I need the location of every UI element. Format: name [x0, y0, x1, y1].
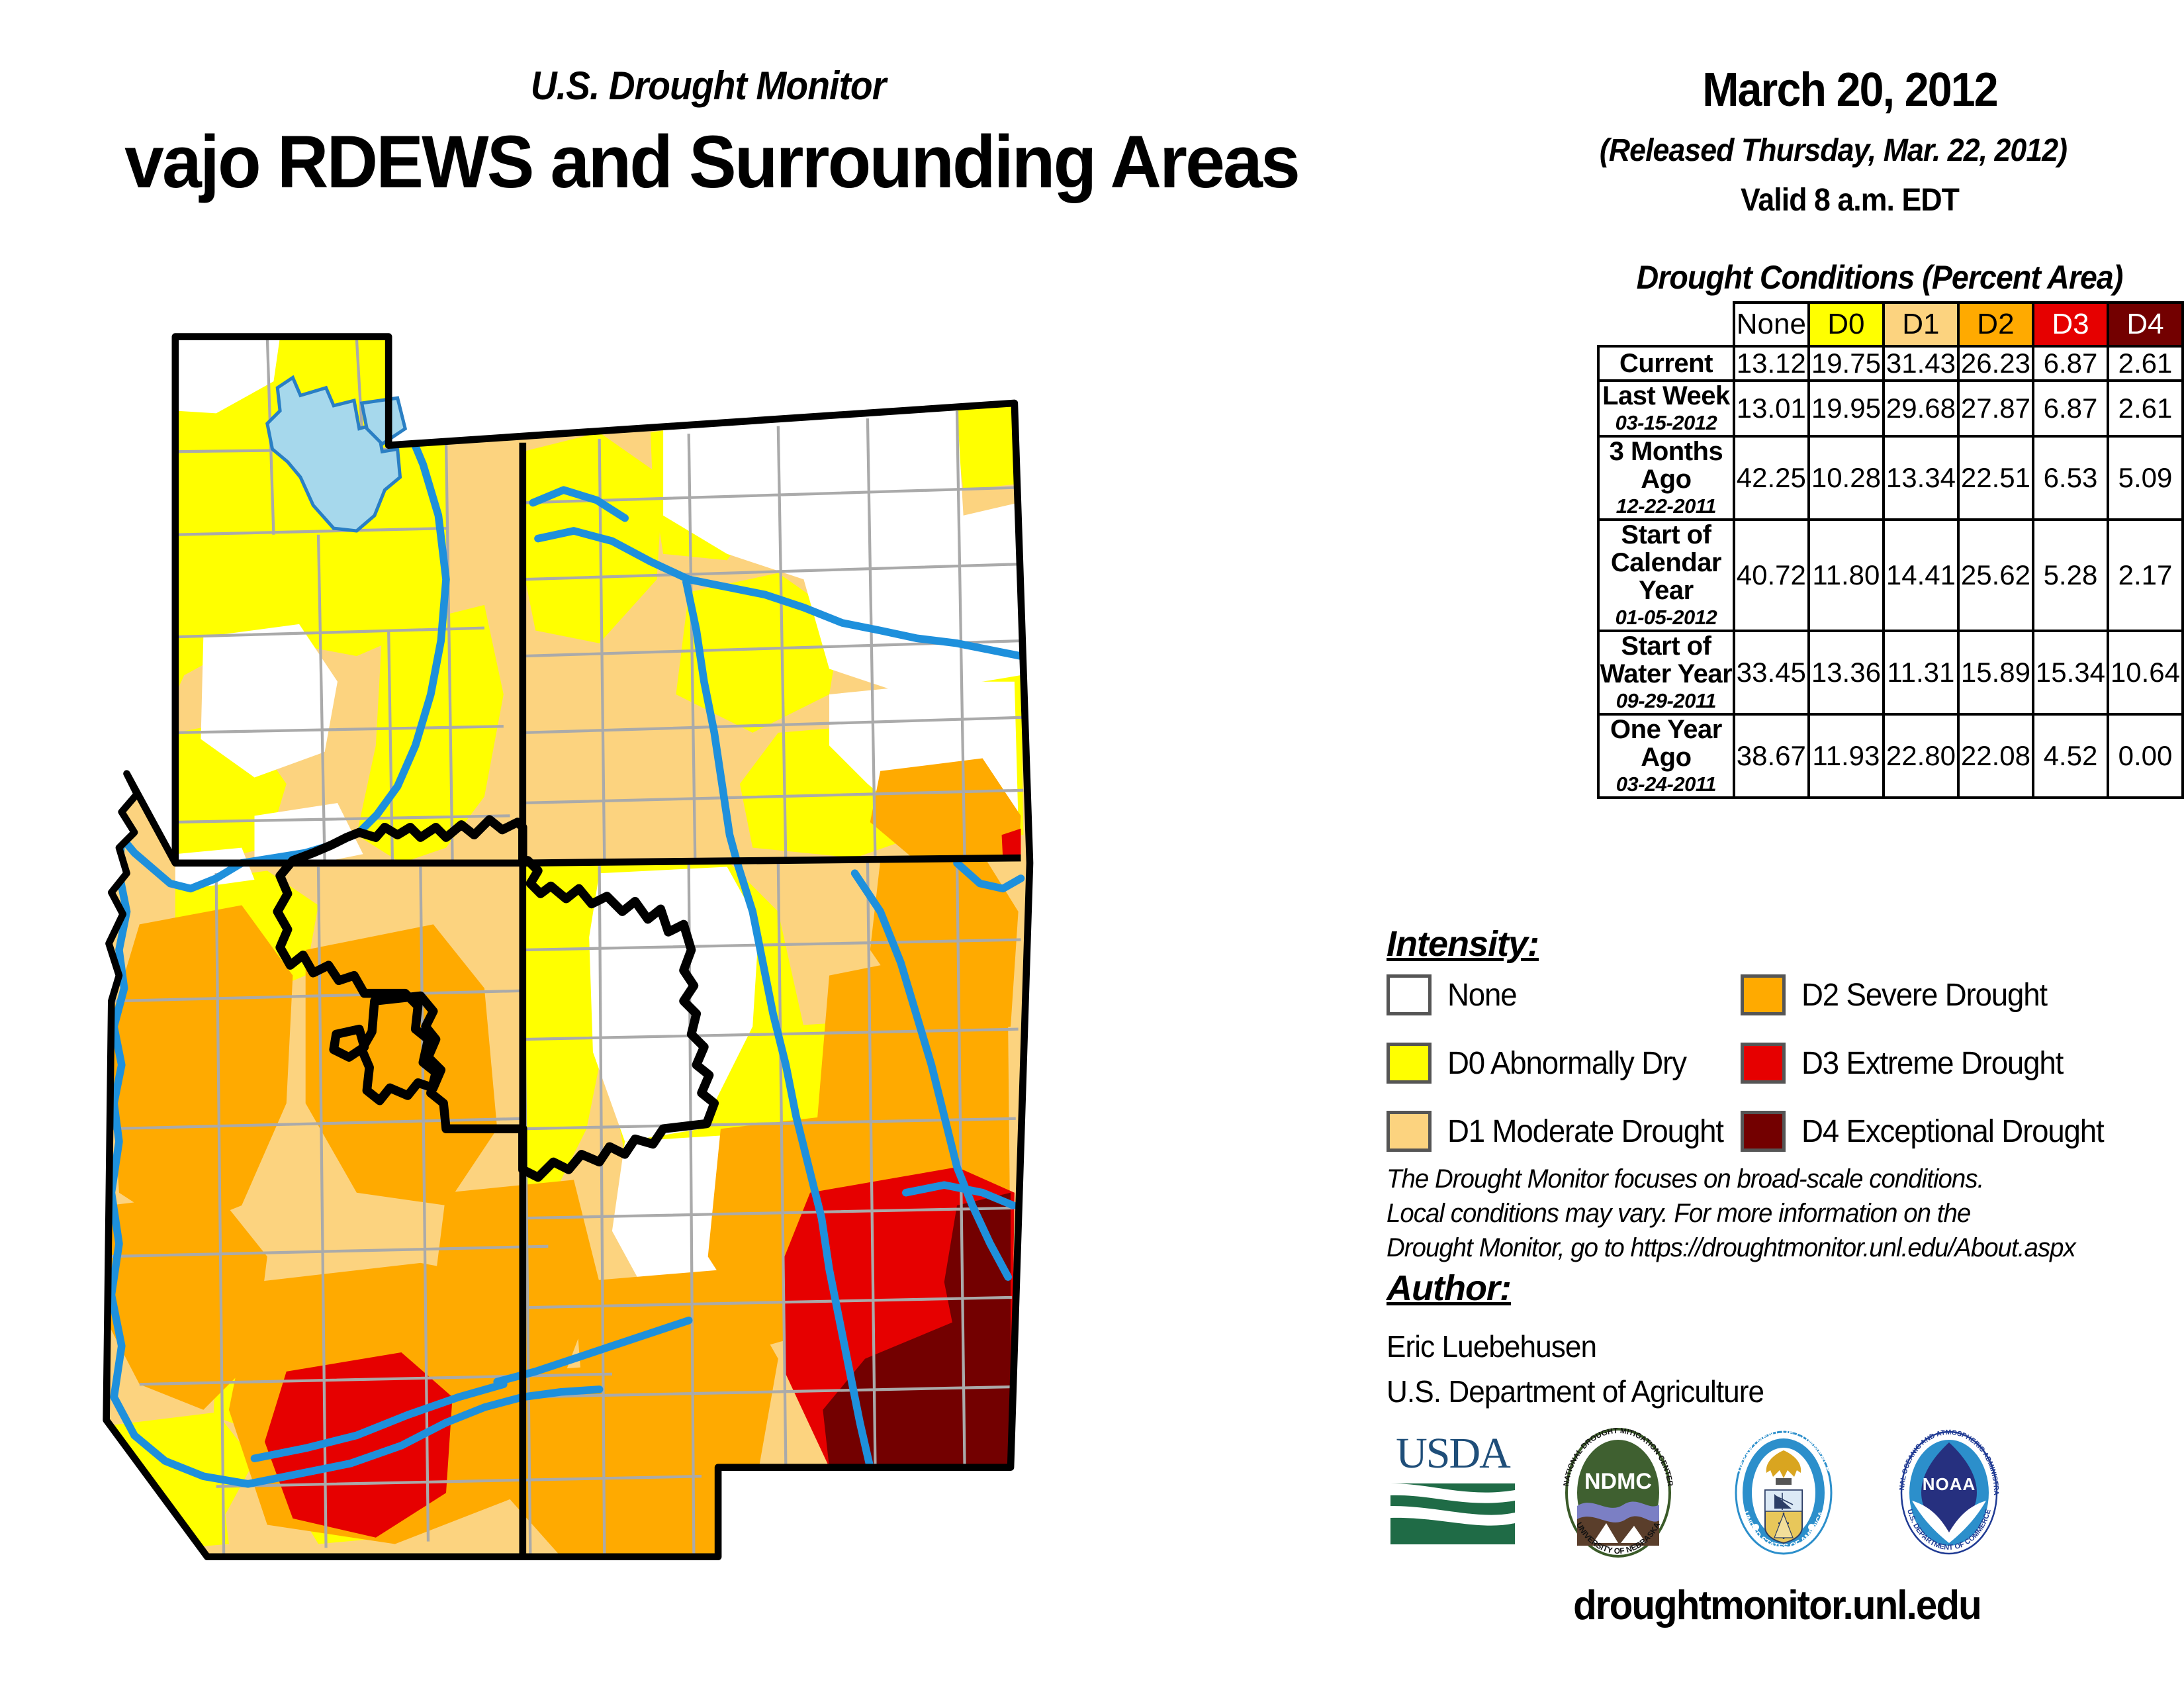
cell-r1-c5: 2.61 — [2108, 381, 2183, 436]
legend-label: D0 Abnormally Dry — [1447, 1045, 1686, 1082]
svg-text:NOAA: NOAA — [1923, 1474, 1976, 1494]
cell-r0-c4: 6.87 — [2033, 346, 2108, 381]
row-label-main: One Year Ago — [1600, 716, 1733, 771]
row-label-5: One Year Ago03-24-2011 — [1598, 714, 1734, 798]
table-row: 3 Months Ago12-22-201142.2510.2813.3422.… — [1598, 436, 2183, 520]
cell-r2-c0: 42.25 — [1734, 436, 1809, 520]
cell-r1-c4: 6.87 — [2033, 381, 2108, 436]
legend-item-d1: D1 Moderate Drought — [1387, 1111, 1738, 1152]
usda-logo: USDA — [1387, 1427, 1519, 1556]
table-row: Last Week03-15-201213.0119.9529.6827.876… — [1598, 381, 2183, 436]
doc-logo: DEPARTMENT OF COMMERCE UNITED STATES OF … — [1717, 1427, 1850, 1562]
row-label-1: Last Week03-15-2012 — [1598, 381, 1734, 436]
disclaimer-line: Drought Monitor, go to https://droughtmo… — [1387, 1231, 2136, 1265]
row-label-main: Start ofCalendar Year — [1600, 521, 1733, 604]
cell-r2-c5: 5.09 — [2108, 436, 2183, 520]
website-url[interactable]: droughtmonitor.unl.edu — [1410, 1582, 2144, 1629]
legend-swatch — [1741, 1111, 1786, 1152]
legend-label: D1 Moderate Drought — [1447, 1113, 1723, 1150]
legend-item-d4: D4 Exceptional Drought — [1741, 1111, 2120, 1152]
region-title: vajo RDEWS and Surrounding Areas — [0, 119, 1480, 205]
legend-label: D2 Severe Drought — [1801, 977, 2047, 1013]
cell-r5-c5: 0.00 — [2108, 714, 2183, 798]
author-agency: U.S. Department of Agriculture — [1387, 1369, 1764, 1414]
legend-item-d2: D2 Severe Drought — [1741, 974, 2060, 1015]
row-label-date: 09-29-2011 — [1600, 689, 1733, 713]
legend-swatch — [1741, 1043, 1786, 1084]
cell-r0-c3: 26.23 — [1958, 346, 2033, 381]
cell-r5-c0: 38.67 — [1734, 714, 1809, 798]
cell-r3-c1: 11.80 — [1809, 520, 1884, 631]
cell-r3-c3: 25.62 — [1958, 520, 2033, 631]
svg-text:USDA: USDA — [1396, 1429, 1511, 1477]
cell-r5-c2: 22.80 — [1884, 714, 1958, 798]
cell-r1-c1: 19.95 — [1809, 381, 1884, 436]
row-label-main: Start ofWater Year — [1600, 632, 1733, 688]
table-row: Current13.1219.7531.4326.236.872.61 — [1598, 346, 2183, 381]
cell-r5-c1: 11.93 — [1809, 714, 1884, 798]
release-date: (Released Thursday, Mar. 22, 2012) — [1507, 132, 2160, 169]
author-name: Eric Luebehusen — [1387, 1324, 1764, 1369]
cell-r4-c2: 11.31 — [1884, 631, 1958, 714]
legend-swatch — [1387, 1043, 1432, 1084]
col-header-d4: D4 — [2108, 303, 2183, 346]
cell-r1-c0: 13.01 — [1734, 381, 1809, 436]
legend-label: D4 Exceptional Drought — [1801, 1113, 2104, 1150]
legend-item-d0: D0 Abnormally Dry — [1387, 1043, 1699, 1084]
legend-swatch — [1741, 974, 1786, 1015]
valid-time: Valid 8 a.m. EDT — [1539, 182, 2160, 218]
row-label-2: 3 Months Ago12-22-2011 — [1598, 436, 1734, 520]
col-header-d3: D3 — [2033, 303, 2108, 346]
legend-swatch — [1387, 1111, 1432, 1152]
cell-r2-c1: 10.28 — [1809, 436, 1884, 520]
table-row: One Year Ago03-24-201138.6711.9322.8022.… — [1598, 714, 2183, 798]
col-header-d1: D1 — [1884, 303, 1958, 346]
legend-label: D3 Extreme Drought — [1801, 1045, 2063, 1082]
drought-conditions-table: None D0 D1 D2 D3 D4 Current13.1219.7531.… — [1597, 301, 2184, 799]
row-label-main: Current — [1600, 350, 1733, 377]
col-header-d2: D2 — [1958, 303, 2033, 346]
table-row: Start ofCalendar Year01-05-201240.7211.8… — [1598, 520, 2183, 631]
cell-r0-c0: 13.12 — [1734, 346, 1809, 381]
legend-swatch — [1387, 974, 1432, 1015]
table-row: Start ofWater Year09-29-201133.4513.3611… — [1598, 631, 2183, 714]
row-label-date: 03-24-2011 — [1600, 773, 1733, 796]
noaa-logo: NOAA NATIONAL OCEANIC AND ATMOSPHERIC AD… — [1883, 1427, 2015, 1562]
cell-r3-c2: 14.41 — [1884, 520, 1958, 631]
col-header-d0: D0 — [1809, 303, 1884, 346]
cell-r2-c3: 22.51 — [1958, 436, 2033, 520]
program-title: U.S. Drought Monitor — [434, 63, 982, 109]
legend-item-none: None — [1387, 974, 1520, 1015]
cell-r5-c3: 22.08 — [1958, 714, 2033, 798]
cell-r3-c0: 40.72 — [1734, 520, 1809, 631]
cell-r3-c4: 5.28 — [2033, 520, 2108, 631]
row-label-date: 01-05-2012 — [1600, 606, 1733, 630]
cell-r4-c1: 13.36 — [1809, 631, 1884, 714]
cell-r4-c4: 15.34 — [2033, 631, 2108, 714]
cell-r2-c4: 6.53 — [2033, 436, 2108, 520]
cell-r4-c3: 15.89 — [1958, 631, 2033, 714]
ndmc-logo: NDMC NATIONAL DROUGHT MITIGATION CENTER … — [1552, 1427, 1684, 1562]
table-header-row: None D0 D1 D2 D3 D4 — [1598, 303, 2183, 346]
cell-r0-c1: 19.75 — [1809, 346, 1884, 381]
row-label-3: Start ofCalendar Year01-05-2012 — [1598, 520, 1734, 631]
row-label-main: 3 Months Ago — [1600, 438, 1733, 493]
cell-r1-c2: 29.68 — [1884, 381, 1958, 436]
col-header-none: None — [1734, 303, 1809, 346]
row-label-4: Start ofWater Year09-29-2011 — [1598, 631, 1734, 714]
cell-r0-c2: 31.43 — [1884, 346, 1958, 381]
table-title: Drought Conditions (Percent Area) — [1596, 258, 2163, 297]
cell-r0-c5: 2.61 — [2108, 346, 2183, 381]
cell-r4-c0: 33.45 — [1734, 631, 1809, 714]
row-label-main: Last Week — [1600, 382, 1733, 410]
table-corner-cell — [1598, 303, 1734, 346]
cell-r3-c5: 2.17 — [2108, 520, 2183, 631]
svg-text:NDMC: NDMC — [1584, 1469, 1652, 1494]
disclaimer-line: The Drought Monitor focuses on broad-sca… — [1387, 1162, 2136, 1196]
drought-map[interactable] — [63, 311, 1340, 1589]
author-heading: Author: — [1387, 1268, 1511, 1309]
disclaimer-text: The Drought Monitor focuses on broad-sca… — [1387, 1162, 2136, 1265]
row-label-date: 03-15-2012 — [1600, 411, 1733, 435]
cell-r4-c5: 10.64 — [2108, 631, 2183, 714]
map-date: March 20, 2012 — [1542, 63, 2157, 117]
row-label-0: Current — [1598, 346, 1734, 381]
legend-label: None — [1447, 977, 1516, 1013]
cell-r5-c4: 4.52 — [2033, 714, 2108, 798]
cell-r1-c3: 27.87 — [1958, 381, 2033, 436]
disclaimer-line: Local conditions may vary. For more info… — [1387, 1196, 2136, 1231]
row-label-date: 12-22-2011 — [1600, 494, 1733, 518]
legend-item-d3: D3 Extreme Drought — [1741, 1043, 2077, 1084]
intensity-heading: Intensity: — [1387, 923, 1539, 964]
cell-r2-c2: 13.34 — [1884, 436, 1958, 520]
